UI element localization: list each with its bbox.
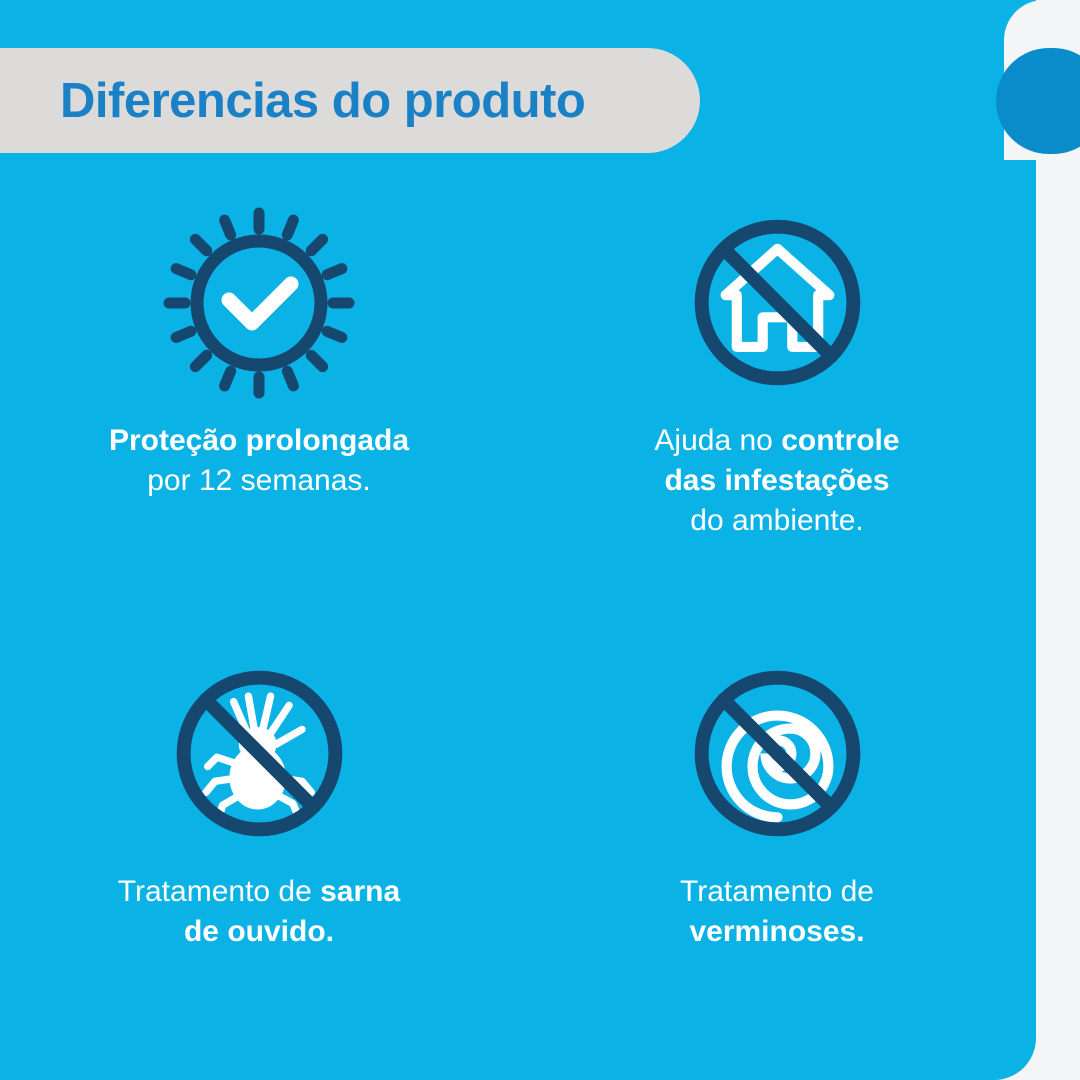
caption-line: do ambiente. (654, 501, 899, 541)
no-worm-icon (685, 651, 870, 856)
sun-check-icon (159, 200, 359, 405)
caption-line: Ajuda no (654, 424, 781, 457)
poster-canvas: Diferencias do produto (0, 0, 1080, 1080)
features-grid: Proteção prolongada por 12 semanas. Ajud… (0, 200, 1036, 951)
caption-line: Tratamento de (118, 875, 320, 908)
caption-line: verminoses. (689, 915, 864, 948)
feature-item-environment-control: Ajuda no controle das infestações do amb… (518, 200, 1036, 541)
feature-item-ear-mange: Tratamento de sarna de ouvido. (0, 651, 518, 952)
feature-item-prolonged-protection: Proteção prolongada por 12 semanas. (0, 200, 518, 541)
feature-item-worm-treatment: Tratamento de verminoses. (518, 651, 1036, 952)
caption-line: sarna (320, 875, 400, 908)
feature-caption: Tratamento de sarna de ouvido. (118, 872, 400, 952)
no-mite-icon (167, 651, 352, 856)
caption-line: das infestações (664, 464, 889, 497)
page-title: Diferencias do produto (60, 73, 585, 129)
feature-caption: Ajuda no controle das infestações do amb… (654, 421, 899, 541)
caption-line: Tratamento de (680, 872, 874, 912)
caption-line: controle (781, 424, 899, 457)
no-house-icon (685, 200, 870, 405)
caption-line: de ouvido. (184, 915, 334, 948)
feature-caption: Proteção prolongada por 12 semanas. (109, 421, 409, 501)
feature-caption: Tratamento de verminoses. (680, 872, 874, 952)
caption-line: por 12 semanas. (109, 461, 409, 501)
caption-line: Proteção prolongada (109, 424, 409, 457)
title-pill: Diferencias do produto (0, 48, 700, 153)
